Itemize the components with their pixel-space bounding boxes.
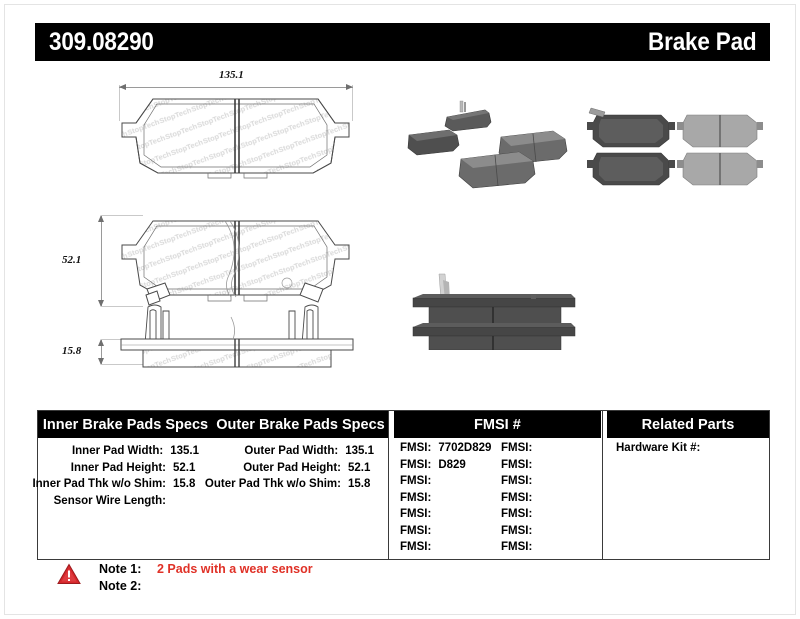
fmsi-label: FMSI: [400,440,431,457]
spec-row: Sensor Wire Length: [38,493,213,510]
product-photo-front-back-set [583,95,768,195]
column-related-parts: Hardware Kit #: [602,438,769,559]
fmsi-label: FMSI: [501,506,532,523]
spec-value: 52.1 [173,460,199,477]
header-related-parts: Related Parts [607,411,769,438]
height-dimension-label: 52.1 [62,254,81,266]
fmsi-label: FMSI: [400,539,431,556]
spec-sheet: 309.08290 Brake Pad 135.1 StopTech [4,4,796,615]
spec-label: Inner Pad Thk w/o Shim: [32,476,166,493]
fmsi-label: FMSI: [501,440,532,457]
fmsi-label: FMSI: [501,539,532,556]
fmsi-row: FMSI: [501,440,602,457]
related-part-label: Hardware Kit #: [616,442,700,454]
note-row-2: Note 2: [99,578,313,595]
fmsi-label: FMSI: [501,523,532,540]
table-header-row: Inner Brake Pads Specs Outer Brake Pads … [38,411,769,438]
fmsi-row: FMSI: [501,523,602,540]
fmsi-row: FMSI: [400,473,501,490]
thickness-dimension-label: 15.8 [62,345,81,357]
height-dimension-line [97,215,106,307]
fmsi-row: FMSI: [501,473,602,490]
fmsi-label: FMSI: [400,506,431,523]
table-body: Inner Pad Width: 135.1 Inner Pad Height:… [38,438,769,559]
header-outer-label: Outer Brake Pads Specs [213,417,388,433]
fmsi-value: D829 [438,457,466,474]
product-photo-edge-pair [403,260,593,350]
product-type: Brake Pad [648,28,756,57]
fmsi-label: FMSI: [501,457,532,474]
spec-row: Inner Pad Width: 135.1 [38,443,213,460]
notes-section: Note 1: 2 Pads with a wear sensor Note 2… [57,561,313,595]
warning-triangle-icon [57,563,81,585]
cad-edge-view [113,299,363,374]
header-inner-label: Inner Brake Pads Specs [38,417,213,433]
fmsi-label: FMSI: [501,473,532,490]
header-fmsi: FMSI # [394,411,601,438]
drawing-area: 135.1 StopTech 52. [5,67,797,397]
fmsi-row: FMSI: [501,539,602,556]
spec-row: Outer Pad Width: 135.1 [213,443,388,460]
spec-label: Outer Pad Thk w/o Shim: [205,476,341,493]
fmsi-label: FMSI: [501,490,532,507]
spec-label: Outer Pad Width: [244,443,338,460]
thickness-dimension-line [97,339,106,365]
part-number: 309.08290 [49,28,154,57]
fmsi-row: FMSI: 7702D829 [400,440,501,457]
fmsi-row: FMSI: [501,457,602,474]
fmsi-row: FMSI: D829 [400,457,501,474]
width-dimension-line [119,83,353,92]
spec-label: Outer Pad Height: [243,460,341,477]
fmsi-label: FMSI: [400,457,431,474]
fmsi-value: 7702D829 [438,440,491,457]
product-photo-angled-set [403,95,583,195]
fmsi-label: FMSI: [400,490,431,507]
column-outer-specs: Outer Pad Width: 135.1 Outer Pad Height:… [213,438,388,559]
width-dimension-label: 135.1 [219,69,244,81]
spec-value: 135.1 [170,443,199,460]
spec-row: Outer Pad Height: 52.1 [213,460,388,477]
fmsi-column-left: FMSI: 7702D829 FMSI: D829 FMSI: FMSI: [400,440,501,556]
fmsi-label: FMSI: [400,473,431,490]
fmsi-row: FMSI: [501,490,602,507]
spec-row: Outer Pad Thk w/o Shim: 15.8 [213,476,388,493]
note1-value: 2 Pads with a wear sensor [157,561,313,578]
header-inner-outer: Inner Brake Pads Specs Outer Brake Pads … [38,411,388,438]
column-fmsi: FMSI: 7702D829 FMSI: D829 FMSI: FMSI: [388,438,602,559]
fmsi-row: FMSI: [400,490,501,507]
fmsi-row: FMSI: [400,523,501,540]
column-inner-specs: Inner Pad Width: 135.1 Inner Pad Height:… [38,438,213,559]
spec-row: Inner Pad Thk w/o Shim: 15.8 [38,476,213,493]
spec-label: Sensor Wire Length: [54,493,166,510]
related-part-row: Hardware Kit #: [616,440,769,457]
spec-row: Inner Pad Height: 52.1 [38,460,213,477]
spec-label: Inner Pad Width: [72,443,163,460]
spec-value: 135.1 [345,443,374,460]
spec-value: 15.8 [173,476,199,493]
fmsi-row: FMSI: [400,506,501,523]
fmsi-row: FMSI: [501,506,602,523]
cad-front-view-top: StopTech [113,93,363,178]
spec-value: 52.1 [348,460,374,477]
title-bar: 309.08290 Brake Pad [35,23,770,61]
note-row-1: Note 1: 2 Pads with a wear sensor [99,561,313,578]
spec-value: 15.8 [348,476,374,493]
spec-table: Inner Brake Pads Specs Outer Brake Pads … [37,410,770,560]
spec-label: Inner Pad Height: [71,460,166,477]
note1-label: Note 1: [99,561,151,578]
fmsi-row: FMSI: [400,539,501,556]
fmsi-column-right: FMSI: FMSI: FMSI: FMSI: [501,440,602,556]
fmsi-label: FMSI: [400,523,431,540]
note2-label: Note 2: [99,578,151,595]
